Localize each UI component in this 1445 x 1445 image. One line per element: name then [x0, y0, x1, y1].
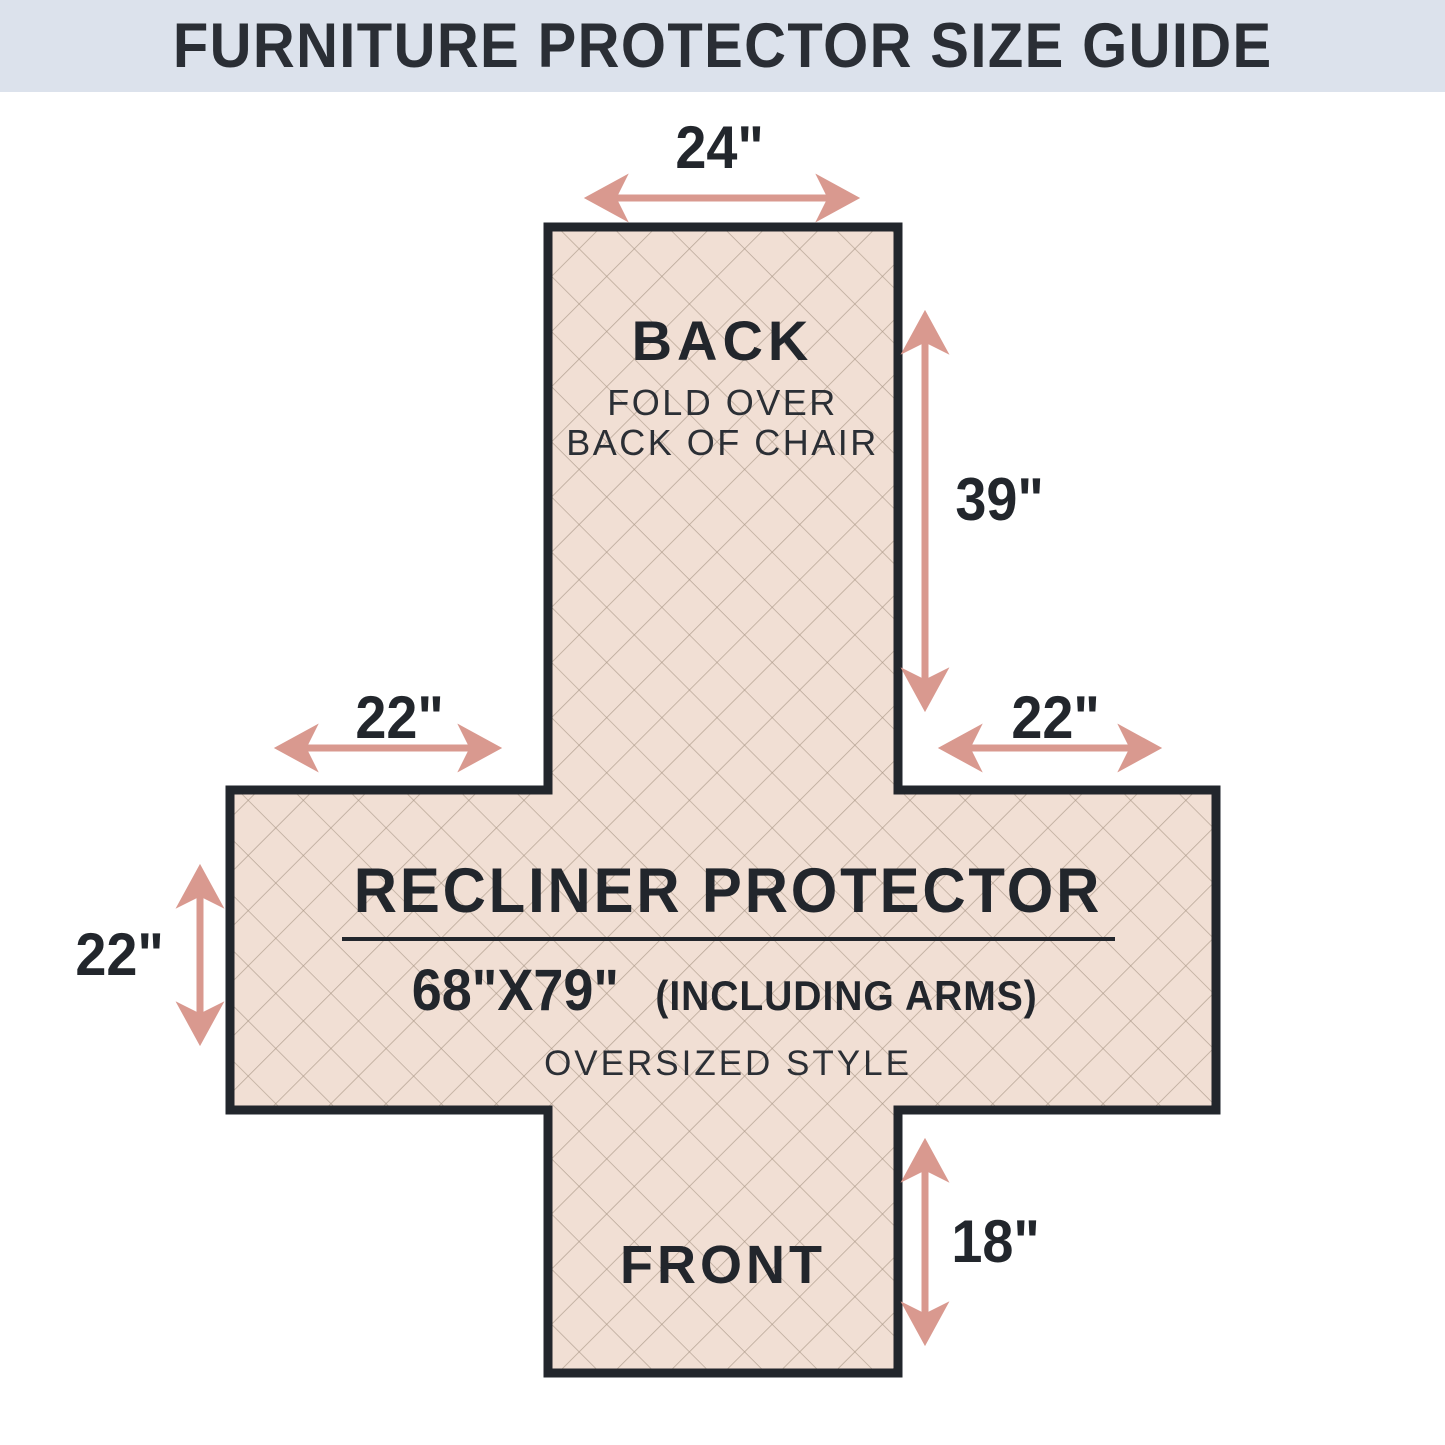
size-note: (INCLUDING ARMS) — [655, 972, 1037, 1020]
dimension-label-front-height: 18" — [951, 1212, 1040, 1272]
size-guide-page: FURNITURE PROTECTOR SIZE GUIDE — [0, 0, 1445, 1445]
size-value: 68"X79" — [412, 957, 619, 1024]
back-note-line-1: FOLD OVER — [0, 385, 1445, 421]
protector-title: RECLINER PROTECTOR — [261, 860, 1196, 923]
panel-label-back: BACK — [0, 313, 1445, 369]
dimension-label-top-width: 24" — [675, 118, 764, 178]
dimension-label-left-arm: 22" — [355, 688, 444, 748]
dimension-label-right-arm: 22" — [1011, 688, 1100, 748]
back-note-line-2: BACK OF CHAIR — [0, 425, 1445, 461]
dimension-label-arm-depth: 22" — [75, 925, 164, 985]
panel-label-front: FRONT — [548, 1238, 898, 1292]
center-text-block: RECLINER PROTECTOR 68"X79" (INCLUDING AR… — [236, 860, 1220, 1084]
title-divider — [342, 937, 1115, 941]
size-row: 68"X79" (INCLUDING ARMS) — [236, 957, 1220, 1024]
style-note: OVERSIZED STYLE — [236, 1044, 1220, 1084]
protector-diagram — [0, 0, 1445, 1445]
dimension-label-back-height: 39" — [955, 470, 1044, 530]
